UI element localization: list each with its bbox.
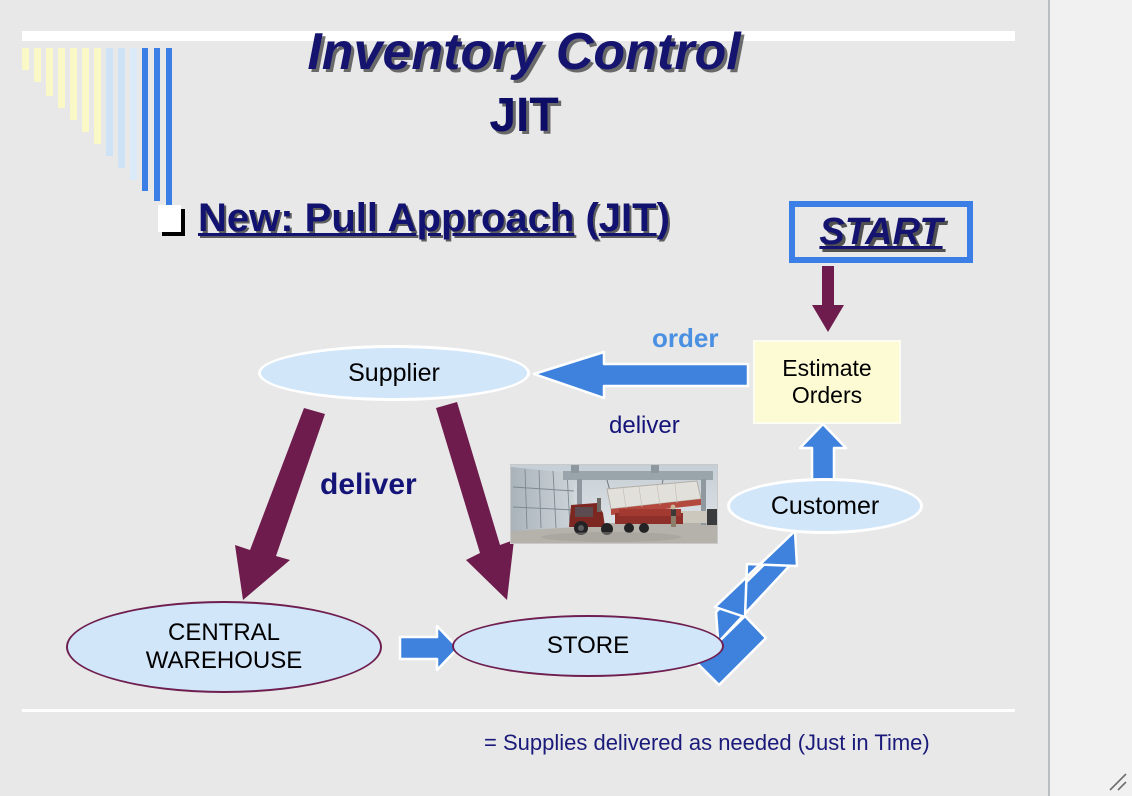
slide-viewer: Inventory Control JIT New: Pull Approach… [0, 0, 1132, 796]
node-customer[interactable]: Customer [727, 478, 923, 534]
resize-grip-icon[interactable] [1107, 771, 1129, 793]
central-warehouse-line2: WAREHOUSE [146, 647, 302, 674]
node-central-warehouse[interactable]: CENTRAL WAREHOUSE [66, 601, 382, 693]
estimate-orders-line1: Estimate [782, 355, 871, 382]
node-customer-label: Customer [771, 492, 879, 521]
node-supplier[interactable]: Supplier [258, 345, 530, 401]
arrow-order-estimate-to-supplier [534, 352, 748, 398]
footer-note: = Supplies delivered as needed (Just in … [484, 730, 930, 756]
bullet-paren-open: ( [574, 196, 598, 240]
label-order: order [652, 323, 718, 354]
slide-subtitle: JIT [0, 88, 1048, 143]
bullet-paren-close: ) [657, 196, 670, 240]
node-store-label: STORE [547, 632, 629, 660]
bullet-square-marker [158, 205, 181, 232]
photo-container-truck [510, 464, 718, 544]
bullet-text-acronym: JIT [599, 196, 657, 240]
photo-scene [511, 465, 718, 544]
right-side-pane [1048, 0, 1132, 796]
node-store[interactable]: STORE [452, 615, 724, 677]
label-deliver-right: deliver [609, 412, 680, 440]
central-warehouse-line1: CENTRAL [168, 619, 280, 646]
presentation-slide: Inventory Control JIT New: Pull Approach… [0, 0, 1048, 796]
worker-figure [671, 505, 676, 527]
label-deliver-left: deliver [320, 468, 417, 502]
arrow-customer-to-estimate [800, 424, 846, 480]
node-estimate-orders[interactable]: Estimate Orders [753, 340, 901, 424]
arrow-deliver-supplier-to-store [436, 402, 514, 600]
start-box[interactable]: START [789, 201, 973, 263]
node-central-warehouse-label: CENTRAL WAREHOUSE [146, 619, 302, 674]
arrow-start-to-estimate [812, 266, 844, 332]
bullet-row: New: Pull Approach (JIT) [158, 196, 670, 241]
slide-title: Inventory Control [0, 22, 1048, 82]
arrow-store-to-customer [697, 531, 797, 685]
estimate-orders-line2: Orders [792, 382, 862, 409]
bullet-text-main: New: Pull Approach [198, 196, 574, 240]
start-label: START [819, 211, 942, 254]
arrow-warehouse-to-store [400, 626, 458, 670]
bottom-divider-rule [22, 709, 1015, 712]
node-supplier-label: Supplier [348, 359, 440, 388]
arrow-deliver-supplier-to-warehouse [235, 408, 325, 600]
bullet-text: New: Pull Approach (JIT) [198, 196, 670, 241]
